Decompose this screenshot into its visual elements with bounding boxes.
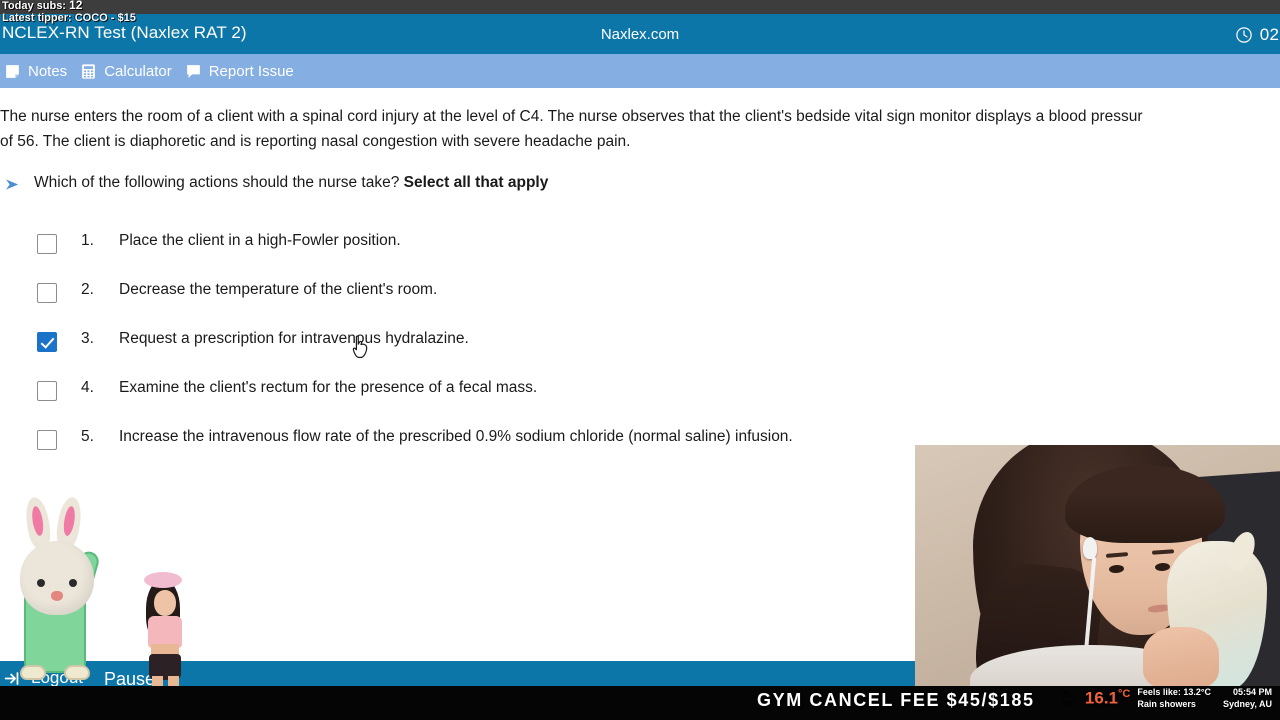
answer-label-4: Examine the client's rectum for the pres… [119, 379, 537, 397]
stream-latest-tipper: Latest tipper: COCO - $15 [2, 12, 136, 25]
weather-widget: 🌦 16.1°C Feels like: 13.2°C Rain showers… [1059, 687, 1272, 710]
stream-alert-text: Today subs: 12 Latest tipper: COCO - $15 [2, 0, 136, 25]
weather-temperature-value: 16.1 [1085, 689, 1118, 708]
answer-checkbox-2[interactable] [37, 283, 57, 303]
weather-condition-text: Rain showers [1137, 699, 1211, 710]
answer-option-5[interactable]: 5. Increase the intravenous flow rate of… [0, 418, 1000, 467]
exam-title: NCLEX-RN Test (Naxlex RAT 2) [2, 23, 247, 43]
weather-condition-icon: 🌦 [1059, 691, 1078, 706]
site-name: Naxlex.com [601, 26, 679, 43]
answer-options-list: 1. Place the client in a high-Fowler pos… [0, 222, 1000, 467]
weather-temperature: 16.1°C [1085, 688, 1130, 709]
answer-label-3: Request a prescription for intravenous h… [119, 330, 469, 348]
stream-goal-text: GYM CANCEL FEE $45/$185 [757, 690, 1035, 711]
answer-checkbox-3[interactable] [37, 332, 57, 352]
webcam-earbud [1083, 537, 1097, 559]
mascot-head [20, 541, 94, 615]
mascot-foot-left [20, 665, 46, 680]
answer-checkbox-1[interactable] [37, 234, 57, 254]
answer-number-5: 5. [81, 428, 119, 446]
stream-alert-strip [0, 0, 1280, 14]
answer-number-2: 2. [81, 281, 119, 299]
dancer-sprite [132, 570, 198, 688]
mascot-eye-right [69, 579, 77, 587]
dancer-face [154, 590, 176, 616]
weather-details-left: Feels like: 13.2°C Rain showers [1137, 687, 1211, 710]
question-prompt-row: Which of the following actions should th… [4, 172, 548, 194]
toolbar-item-calculator[interactable]: Calculator [76, 54, 181, 88]
question-stem: The nurse enters the room of a client wi… [0, 104, 1280, 154]
mascot-eye-left [37, 579, 45, 587]
screen-root: NCLEX-RN Test (Naxlex RAT 2) Naxlex.com … [0, 0, 1280, 720]
question-prompt-instruction: Select all that apply [404, 174, 549, 191]
weather-details: Feels like: 13.2°C Rain showers 05:54 PM… [1137, 687, 1272, 710]
mascot-foot-right [64, 665, 90, 680]
webcam-streamer-hand [1143, 627, 1219, 687]
answer-option-1[interactable]: 1. Place the client in a high-Fowler pos… [0, 222, 1000, 271]
stream-subs-count: 12 [69, 0, 82, 12]
bunny-mascot-sprite [10, 513, 114, 685]
question-stem-line-1: The nurse enters the room of a client wi… [0, 104, 1280, 129]
toolbar-label-notes: Notes [28, 63, 67, 80]
toolbar-item-notes[interactable]: Notes [0, 54, 76, 88]
webcam-overlay [915, 445, 1280, 687]
weather-location: Sydney, AU [1223, 699, 1272, 710]
answer-label-5: Increase the intravenous flow rate of th… [119, 428, 793, 446]
exam-toolbar: Notes Calculator Report Issue [0, 54, 1280, 88]
dancer-bow [144, 572, 182, 588]
answer-checkbox-4[interactable] [37, 381, 57, 401]
answer-number-1: 1. [81, 232, 119, 250]
timer-value: 02:0 [1260, 25, 1280, 45]
question-prompt: Which of the following actions should th… [34, 172, 548, 194]
toolbar-label-calculator: Calculator [104, 63, 172, 80]
weather-temperature-unit: °C [1118, 688, 1130, 700]
answer-option-3[interactable]: 3. Request a prescription for intravenou… [0, 320, 1000, 369]
exam-header: NCLEX-RN Test (Naxlex RAT 2) Naxlex.com … [0, 14, 1280, 54]
mascot-nose [51, 591, 63, 601]
toolbar-item-report-issue[interactable]: Report Issue [181, 54, 303, 88]
toolbar-label-report-issue: Report Issue [209, 63, 294, 80]
answer-option-2[interactable]: 2. Decrease the temperature of the clien… [0, 271, 1000, 320]
answer-label-2: Decrease the temperature of the client's… [119, 281, 437, 299]
answer-number-3: 3. [81, 330, 119, 348]
note-icon [4, 63, 21, 80]
weather-feels-like: Feels like: 13.2°C [1137, 687, 1211, 698]
question-stem-line-2: of 56. The client is diaphoretic and is … [0, 129, 1280, 154]
calculator-icon [80, 63, 97, 80]
clock-icon [1235, 26, 1253, 44]
answer-checkbox-5[interactable] [37, 430, 57, 450]
exam-timer: 02:0 [1235, 25, 1280, 45]
speech-bubble-icon [185, 63, 202, 80]
weather-local-time: 05:54 PM [1223, 687, 1272, 698]
stream-subs-label: Today subs: [2, 0, 66, 12]
answer-option-4[interactable]: 4. Examine the client's rectum for the p… [0, 369, 1000, 418]
answer-number-4: 4. [81, 379, 119, 397]
weather-details-right: 05:54 PM Sydney, AU [1223, 687, 1272, 710]
arrow-bullet-icon [4, 176, 21, 193]
question-prompt-text: Which of the following actions should th… [34, 174, 399, 191]
answer-label-1: Place the client in a high-Fowler positi… [119, 232, 401, 250]
